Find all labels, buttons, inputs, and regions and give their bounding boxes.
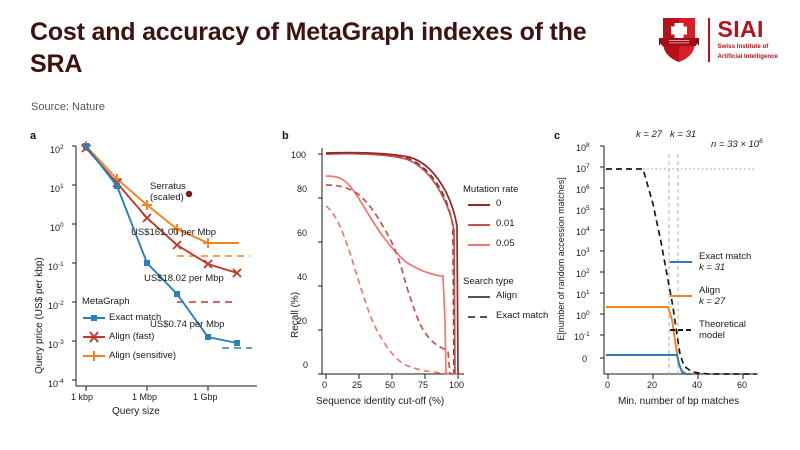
panel-a-xtick-1: 1 Mbp [132, 392, 157, 402]
panel-c: c E[number of random accession matches] … [548, 128, 800, 418]
panel-a-legend-title: MetaGraph [82, 296, 130, 307]
panel-a-xtick-2: 1 Gbp [193, 392, 218, 402]
panel-b-xtick-50: 50 [385, 380, 395, 390]
panel-b-ytick-80: 80 [297, 184, 307, 194]
panel-c-letter: c [554, 130, 560, 142]
panel-b-legend-rate-0: 0 [496, 199, 501, 210]
panel-b-ytick-0: 0 [303, 360, 308, 370]
panel-c-legend-lines [670, 256, 700, 366]
panel-a-letter: a [30, 130, 36, 142]
panel-c-xtick-60: 60 [737, 380, 747, 390]
panel-c-ytick-1e8: 108 [576, 142, 590, 153]
panel-c-ytick-1e4: 104 [576, 226, 590, 237]
panel-b-xtick-75: 75 [418, 380, 428, 390]
panel-b-ytick-60: 60 [297, 228, 307, 238]
panel-b: b Recall (%) 0 20 40 60 80 100 [278, 128, 548, 418]
panel-c-legend-align: Alignk = 27 [699, 286, 725, 307]
page-title: Cost and accuracy of MetaGraph indexes o… [30, 16, 620, 80]
panel-a-legend-exact-match: Exact match [109, 313, 161, 324]
panel-c-ytick-1e0: 100 [576, 310, 590, 321]
panel-b-letter: b [282, 130, 289, 142]
panel-a-ytick-6: 10-4 [48, 378, 64, 389]
panel-b-ytick-100: 100 [291, 150, 306, 160]
panel-c-xtick-0: 0 [605, 380, 610, 390]
panel-b-legend-exact-match: Exact match [496, 311, 548, 322]
panel-a-ytick-5: 10-3 [48, 339, 64, 350]
panel-c-xlabel: Min. number of bp matches [618, 396, 739, 407]
slide-root: Cost and accuracy of MetaGraph indexes o… [0, 0, 800, 450]
panel-b-xtick-0: 0 [322, 380, 327, 390]
panel-a-xlabel: Query size [112, 406, 160, 417]
panel-c-marker-k31: k = 31 [670, 130, 696, 141]
panel-a-annotation-18: US$18.02 per Mbp [144, 274, 224, 285]
panel-b-xtick-25: 25 [352, 380, 362, 390]
logo-subtitle-line2: Artificial Intelligence [717, 53, 778, 61]
panel-b-legend-title-searchtype: Search type [463, 276, 514, 287]
logo-subtitle-line1: Swiss Institute of [717, 43, 778, 51]
panel-a-ytick-4: 10-2 [48, 300, 64, 311]
siai-logo: SIAI Swiss Institute of Artificial Intel… [657, 14, 778, 66]
logo-wordmark: SIAI Swiss Institute of Artificial Intel… [708, 18, 778, 62]
source-caption: Source: Nature [31, 101, 105, 113]
panel-b-ytick-40: 40 [297, 272, 307, 282]
panel-a-ytick-2: 100 [50, 222, 64, 233]
panel-c-ytick-1e5: 105 [576, 205, 590, 216]
panel-a-xtick-0: 1 kbp [71, 392, 93, 402]
panel-c-ytick-0: 0 [582, 354, 587, 364]
panel-b-legend-title-mutation: Mutation rate [463, 184, 518, 195]
panel-c-ytick-1e2: 102 [576, 268, 590, 279]
logo-name: SIAI [717, 19, 778, 41]
panel-b-xtick-100: 100 [449, 380, 464, 390]
panel-a: a Query price (US$ per kbp) 102 101 100 … [22, 128, 284, 418]
panel-b-ylabel: Recall (%) [290, 292, 301, 338]
panel-c-ytick-1em1: 10-1 [574, 331, 590, 342]
swiss-shield-icon [657, 16, 701, 64]
panel-a-ytick-3: 10-1 [48, 261, 64, 272]
panel-c-marker-k27: k = 27 [636, 130, 662, 141]
panel-c-ytick-1e1: 101 [576, 289, 590, 300]
panel-b-legend-rate-001: 0.01 [496, 219, 515, 230]
panel-b-legend-align: Align [496, 291, 517, 302]
panel-a-ytick-0: 102 [50, 144, 64, 155]
panel-c-ytick-1e6: 106 [576, 184, 590, 195]
panel-a-ytick-1: 101 [50, 183, 64, 194]
panel-c-xtick-40: 40 [692, 380, 702, 390]
panel-a-legend-align-sensitive: Align (sensitive) [109, 351, 176, 362]
panel-c-ytick-1e7: 107 [576, 163, 590, 174]
panel-c-n-label: n = 33 × 106 [711, 138, 763, 151]
panel-b-legend-rate-005: 0.05 [496, 239, 515, 250]
panel-c-ytick-1e3: 103 [576, 247, 590, 258]
panel-a-annotation-161: US$161.00 per Mbp [131, 228, 216, 239]
panel-c-ylabel: E[number of random accession matches] [556, 144, 566, 374]
panel-a-ylabel: Query price (US$ per kbp) [34, 257, 45, 374]
panel-c-legend-theoretical-model: Theoreticalmodel [699, 320, 746, 341]
panel-b-plot [316, 142, 481, 412]
panel-b-ytick-20: 20 [297, 316, 307, 326]
panel-a-legend-align-fast: Align (fast) [109, 332, 154, 343]
panel-c-xtick-20: 20 [647, 380, 657, 390]
panel-a-annotation-serratus: Serratus(scaled) [150, 182, 186, 204]
panel-b-xlabel: Sequence identity cut-off (%) [316, 396, 444, 407]
panel-c-legend-exact-match: Exact matchk = 31 [699, 252, 751, 273]
